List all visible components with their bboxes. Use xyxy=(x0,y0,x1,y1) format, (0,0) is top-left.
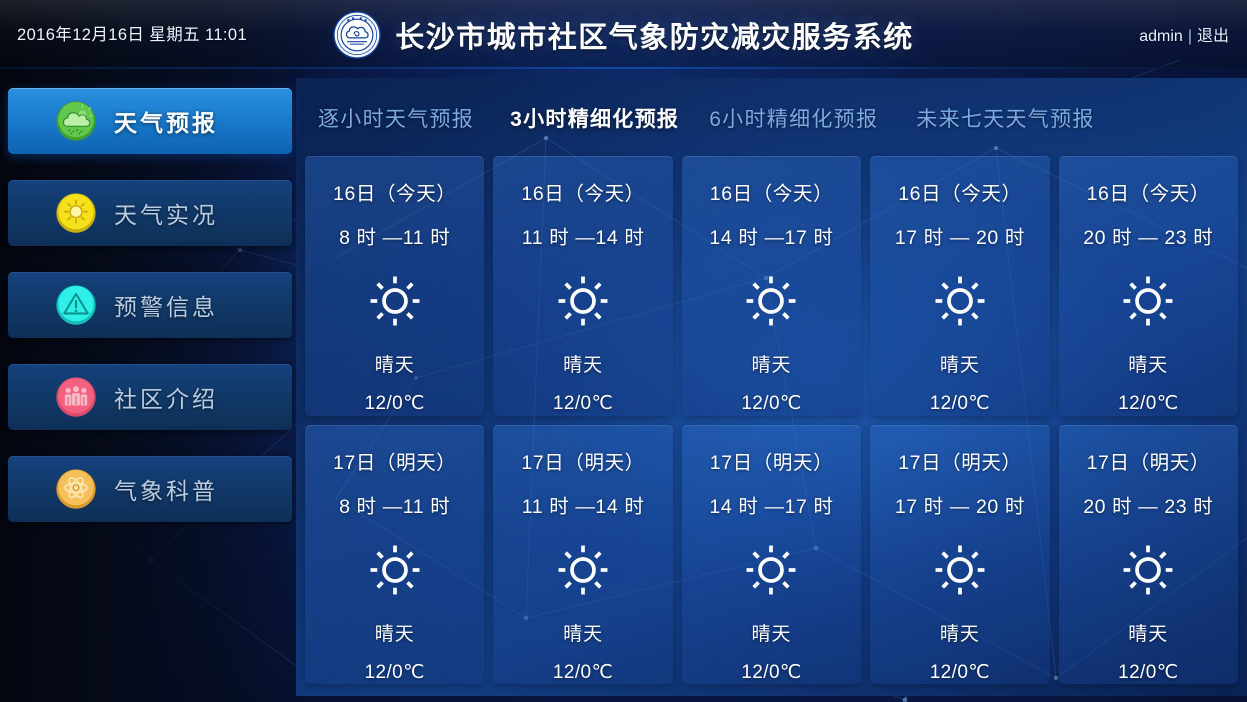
forecast-card[interactable]: 17日（明天） 14 时 —17 时 晴天 12/0℃ xyxy=(682,425,861,685)
sidebar-item-weather-science[interactable]: 气象科普 xyxy=(8,456,292,522)
forecast-condition: 晴天 xyxy=(563,350,603,377)
forecast-condition: 晴天 xyxy=(940,619,980,646)
forecast-date: 16日（今天） xyxy=(1087,177,1210,206)
sun-icon xyxy=(744,274,798,328)
forecast-tab-bar: 逐小时天气预报 3小时精细化预报 6小时精细化预报 未来七天天气预报 xyxy=(296,94,1247,142)
forecast-card[interactable]: 17日（明天） 17 时 — 20 时 晴天 12/0℃ xyxy=(870,425,1049,685)
forecast-date: 17日（明天） xyxy=(1087,446,1210,475)
forecast-card[interactable]: 17日（明天） 20 时 — 23 时 晴天 12/0℃ xyxy=(1059,425,1238,685)
sun-icon xyxy=(1121,274,1175,328)
sidebar-item-community-intro[interactable]: 社区介绍 xyxy=(8,364,292,430)
forecast-card[interactable]: 17日（明天） 11 时 —14 时 晴天 12/0℃ xyxy=(493,425,672,685)
warning-triangle-icon xyxy=(55,284,97,326)
tab-6hour-forecast[interactable]: 6小时精细化预报 xyxy=(709,103,878,133)
forecast-card[interactable]: 17日（明天） 8 时 —11 时 晴天 12/0℃ xyxy=(305,425,484,685)
forecast-card[interactable]: 16日（今天） 14 时 —17 时 晴天 12/0℃ xyxy=(682,156,861,416)
sun-icon xyxy=(556,274,610,328)
forecast-time-range: 20 时 — 23 时 xyxy=(1083,221,1213,250)
sidebar-nav: 天气预报 天气实况 预警信息 xyxy=(8,88,292,548)
forecast-card[interactable]: 16日（今天） 20 时 — 23 时 晴天 12/0℃ xyxy=(1059,156,1238,416)
forecast-temperature: 12/0℃ xyxy=(1118,661,1178,684)
sidebar-item-weather-live[interactable]: 天气实况 xyxy=(8,180,292,246)
sun-icon xyxy=(55,192,97,234)
sidebar-item-weather-forecast[interactable]: 天气预报 xyxy=(8,88,292,154)
forecast-time-range: 11 时 —14 时 xyxy=(522,490,645,519)
tab-3hour-forecast[interactable]: 3小时精细化预报 xyxy=(510,103,679,133)
user-separator: | xyxy=(1188,28,1192,45)
forecast-time-range: 8 时 —11 时 xyxy=(339,490,450,519)
forecast-time-range: 14 时 —17 时 xyxy=(709,490,833,519)
forecast-condition: 晴天 xyxy=(375,619,415,646)
sun-icon xyxy=(933,274,987,328)
forecast-temperature: 12/0℃ xyxy=(741,661,801,684)
forecast-date: 17日（明天） xyxy=(333,446,456,475)
sidebar-item-label: 气象科普 xyxy=(114,472,218,506)
sun-icon xyxy=(368,274,422,328)
sun-icon xyxy=(933,543,987,597)
atom-icon xyxy=(55,468,97,510)
forecast-condition: 晴天 xyxy=(940,350,980,377)
forecast-date: 16日（今天） xyxy=(521,177,644,206)
sun-icon xyxy=(1121,543,1175,597)
forecast-condition: 晴天 xyxy=(375,350,415,377)
forecast-temperature: 12/0℃ xyxy=(553,661,613,684)
sun-icon xyxy=(556,543,610,597)
forecast-date: 16日（今天） xyxy=(710,177,833,206)
sidebar-item-label: 天气实况 xyxy=(114,196,218,230)
forecast-temperature: 12/0℃ xyxy=(365,392,425,415)
user-name: admin xyxy=(1139,28,1183,45)
people-group-icon xyxy=(55,376,97,418)
tab-hourly-forecast[interactable]: 逐小时天气预报 xyxy=(318,103,474,133)
forecast-temperature: 12/0℃ xyxy=(741,392,801,415)
forecast-condition: 晴天 xyxy=(1128,350,1168,377)
forecast-date: 16日（今天） xyxy=(333,177,456,206)
forecast-date: 17日（明天） xyxy=(898,446,1021,475)
forecast-temperature: 12/0℃ xyxy=(553,392,613,415)
tab-seven-day-forecast[interactable]: 未来七天天气预报 xyxy=(916,103,1094,133)
sidebar-item-warning-info[interactable]: 预警信息 xyxy=(8,272,292,338)
forecast-time-range: 17 时 — 20 时 xyxy=(895,490,1025,519)
forecast-temperature: 12/0℃ xyxy=(930,661,990,684)
forecast-card[interactable]: 16日（今天） 11 时 —14 时 晴天 12/0℃ xyxy=(493,156,672,416)
forecast-card[interactable]: 16日（今天） 8 时 —11 时 晴天 12/0℃ xyxy=(305,156,484,416)
forecast-card[interactable]: 16日（今天） 17 时 — 20 时 晴天 12/0℃ xyxy=(870,156,1049,416)
forecast-temperature: 12/0℃ xyxy=(930,392,990,415)
forecast-condition: 晴天 xyxy=(751,619,791,646)
sidebar-item-label: 天气预报 xyxy=(114,104,218,138)
logout-link[interactable]: 退出 xyxy=(1197,28,1229,45)
sidebar-item-label: 社区介绍 xyxy=(114,380,218,414)
sun-icon xyxy=(744,543,798,597)
forecast-temperature: 12/0℃ xyxy=(365,661,425,684)
forecast-date: 16日（今天） xyxy=(898,177,1021,206)
sidebar-item-label: 预警信息 xyxy=(114,288,218,322)
cloud-rain-icon xyxy=(55,100,97,142)
header-datetime: 2016年12月16日 星期五 11:01 xyxy=(17,21,247,45)
forecast-time-range: 17 时 — 20 时 xyxy=(895,221,1025,250)
sun-icon xyxy=(368,543,422,597)
forecast-date: 17日（明天） xyxy=(521,446,644,475)
forecast-time-range: 20 时 — 23 时 xyxy=(1083,490,1213,519)
forecast-temperature: 12/0℃ xyxy=(1118,392,1178,415)
forecast-date: 17日（明天） xyxy=(710,446,833,475)
user-area: admin|退出 xyxy=(1139,22,1229,46)
header-bottom-rule xyxy=(0,67,1247,69)
app-header: 2016年12月16日 星期五 11:01 长沙市城市社区气象防灾减灾服务系统 … xyxy=(0,0,1247,69)
main-content-panel: 逐小时天气预报 3小时精细化预报 6小时精细化预报 未来七天天气预报 16日（今… xyxy=(296,78,1247,696)
forecast-time-range: 11 时 —14 时 xyxy=(522,221,645,250)
forecast-time-range: 8 时 —11 时 xyxy=(339,221,450,250)
forecast-card-grid: 16日（今天） 8 时 —11 时 晴天 12/0℃ 16日（今天） 11 时 … xyxy=(305,156,1238,684)
forecast-condition: 晴天 xyxy=(1128,619,1168,646)
forecast-condition: 晴天 xyxy=(751,350,791,377)
forecast-time-range: 14 时 —17 时 xyxy=(709,221,833,250)
forecast-condition: 晴天 xyxy=(563,619,603,646)
